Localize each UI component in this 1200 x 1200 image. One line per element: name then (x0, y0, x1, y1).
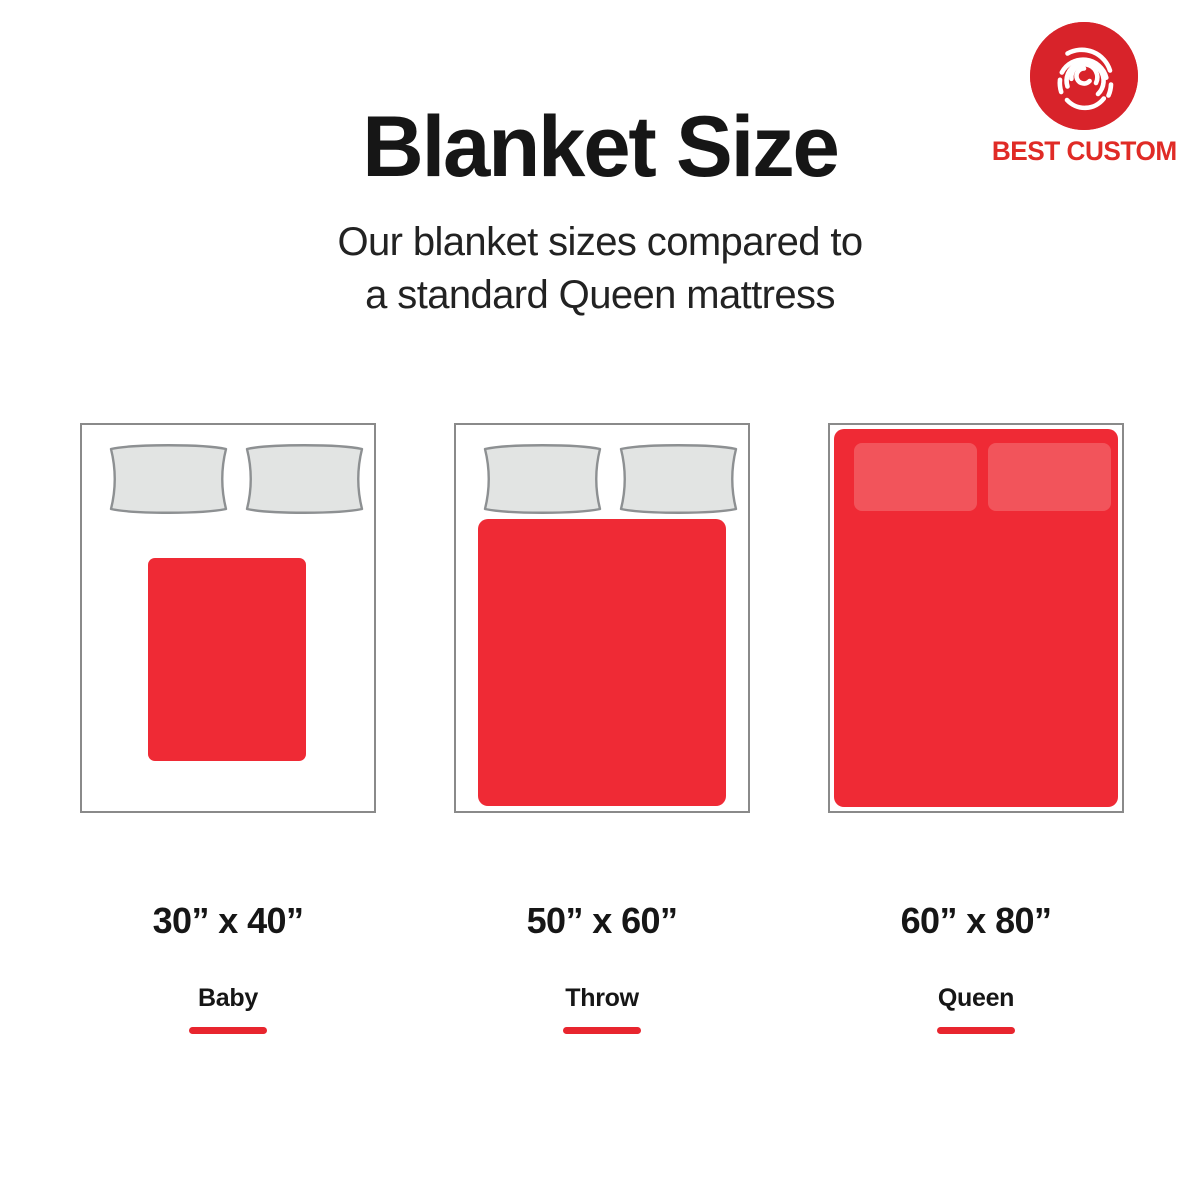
pillow-icon-left (854, 443, 977, 511)
pillow-icon-left (104, 443, 233, 515)
underline-accent-bar (937, 1027, 1015, 1034)
subtitle-line-2: a standard Queen mattress (220, 269, 980, 322)
size-name-text: Throw (454, 984, 750, 1013)
blanket-shape-throw (478, 519, 726, 806)
header-block: Blanket Size Our blanket sizes compared … (0, 104, 1200, 322)
size-name-text: Baby (80, 984, 376, 1013)
bed-diagram-queen (828, 423, 1124, 813)
size-label-row: 30” x 40” Baby 50” x 60” Throw 60” x 80”… (0, 900, 1200, 1060)
underline-accent-bar (563, 1027, 641, 1034)
pillow-icon-left (478, 443, 607, 515)
bed-diagram-throw (454, 423, 750, 813)
dimensions-text: 50” x 60” (454, 900, 750, 942)
dimensions-text: 30” x 40” (80, 900, 376, 942)
pillow-icon-right (240, 443, 369, 515)
page-subtitle: Our blanket sizes compared to a standard… (220, 216, 980, 322)
pillow-icon-right (614, 443, 743, 515)
size-label-baby: 30” x 40” Baby (80, 900, 376, 1034)
dimensions-text: 60” x 80” (828, 900, 1124, 942)
bed-diagram-row (0, 423, 1200, 815)
size-name-text: Queen (828, 984, 1124, 1013)
page-title: Blanket Size (6, 104, 1194, 190)
blanket-shape-baby (148, 558, 306, 761)
size-label-throw: 50” x 60” Throw (454, 900, 750, 1034)
blanket-shape-queen (834, 429, 1118, 807)
pillow-icon-right (988, 443, 1111, 511)
underline-accent-bar (189, 1027, 267, 1034)
size-label-queen: 60” x 80” Queen (828, 900, 1124, 1034)
subtitle-line-1: Our blanket sizes compared to (220, 216, 980, 269)
bed-diagram-baby (80, 423, 376, 813)
